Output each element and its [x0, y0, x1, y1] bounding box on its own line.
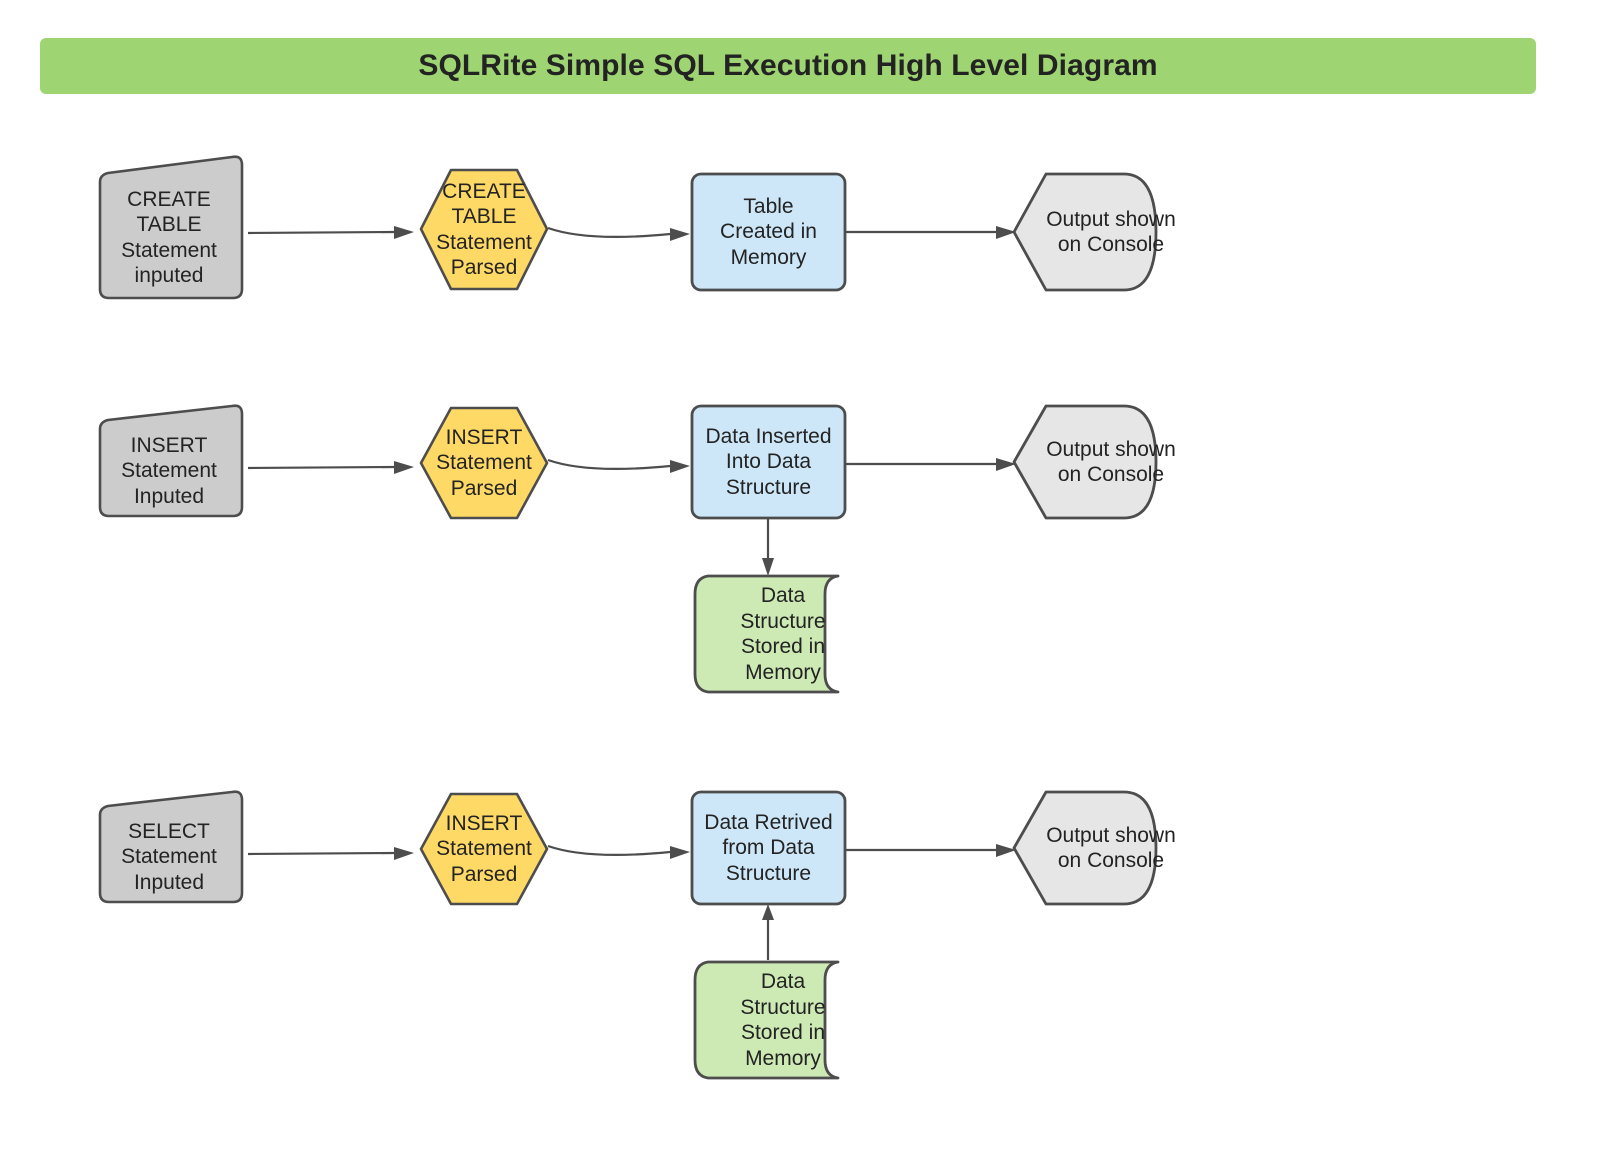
node-create-table-input[interactable]: CREATE TABLE Statement inputed [90, 155, 248, 300]
edge-table-to-output [846, 205, 1026, 255]
edge-insert-parsed-to-data [548, 432, 704, 492]
node-data-inserted-into-structure[interactable]: Data Inserted Into Data Structure [690, 404, 847, 520]
edge-data-inserted-to-output [846, 437, 1026, 487]
node-create-table-parsed[interactable]: CREATE TABLE Statement Parsed [418, 167, 550, 292]
edge-insert-input-to-parsed [248, 440, 428, 500]
diagram-canvas: SQLRite Simple SQL Execution High Level … [0, 0, 1624, 1160]
edge-data-inserted-to-store [740, 518, 800, 580]
page-title: SQLRite Simple SQL Execution High Level … [418, 49, 1157, 83]
node-insert-parsed[interactable]: INSERT Statement Parsed [418, 405, 550, 521]
node-insert-input[interactable]: INSERT Statement Inputed [90, 404, 248, 518]
node-select-data-structure-store[interactable]: Data Structure Stored in Memory [692, 958, 854, 1082]
node-insert-data-structure-store[interactable]: Data Structure Stored in Memory [692, 572, 854, 696]
edge-select-store-to-data-retrieved [740, 902, 800, 964]
node-data-retrieved-from-structure[interactable]: Data Retrived from Data Structure [690, 790, 847, 906]
node-insert-output-console[interactable]: Output shown on Console [1012, 404, 1158, 520]
diagram-title-banner: SQLRite Simple SQL Execution High Level … [40, 38, 1536, 94]
edge-select-input-to-parsed [248, 826, 428, 886]
edge-select-parsed-to-data [548, 818, 704, 878]
edge-create-input-to-parsed [248, 205, 428, 265]
node-create-output-console[interactable]: Output shown on Console [1012, 172, 1158, 292]
node-select-input[interactable]: SELECT Statement Inputed [90, 790, 248, 904]
node-select-parsed[interactable]: INSERT Statement Parsed [418, 791, 550, 907]
edge-data-retrieved-to-output [846, 823, 1026, 873]
edge-create-parsed-to-table [548, 200, 704, 260]
node-table-created-in-memory[interactable]: Table Created in Memory [690, 172, 847, 292]
node-select-output-console[interactable]: Output shown on Console [1012, 790, 1158, 906]
